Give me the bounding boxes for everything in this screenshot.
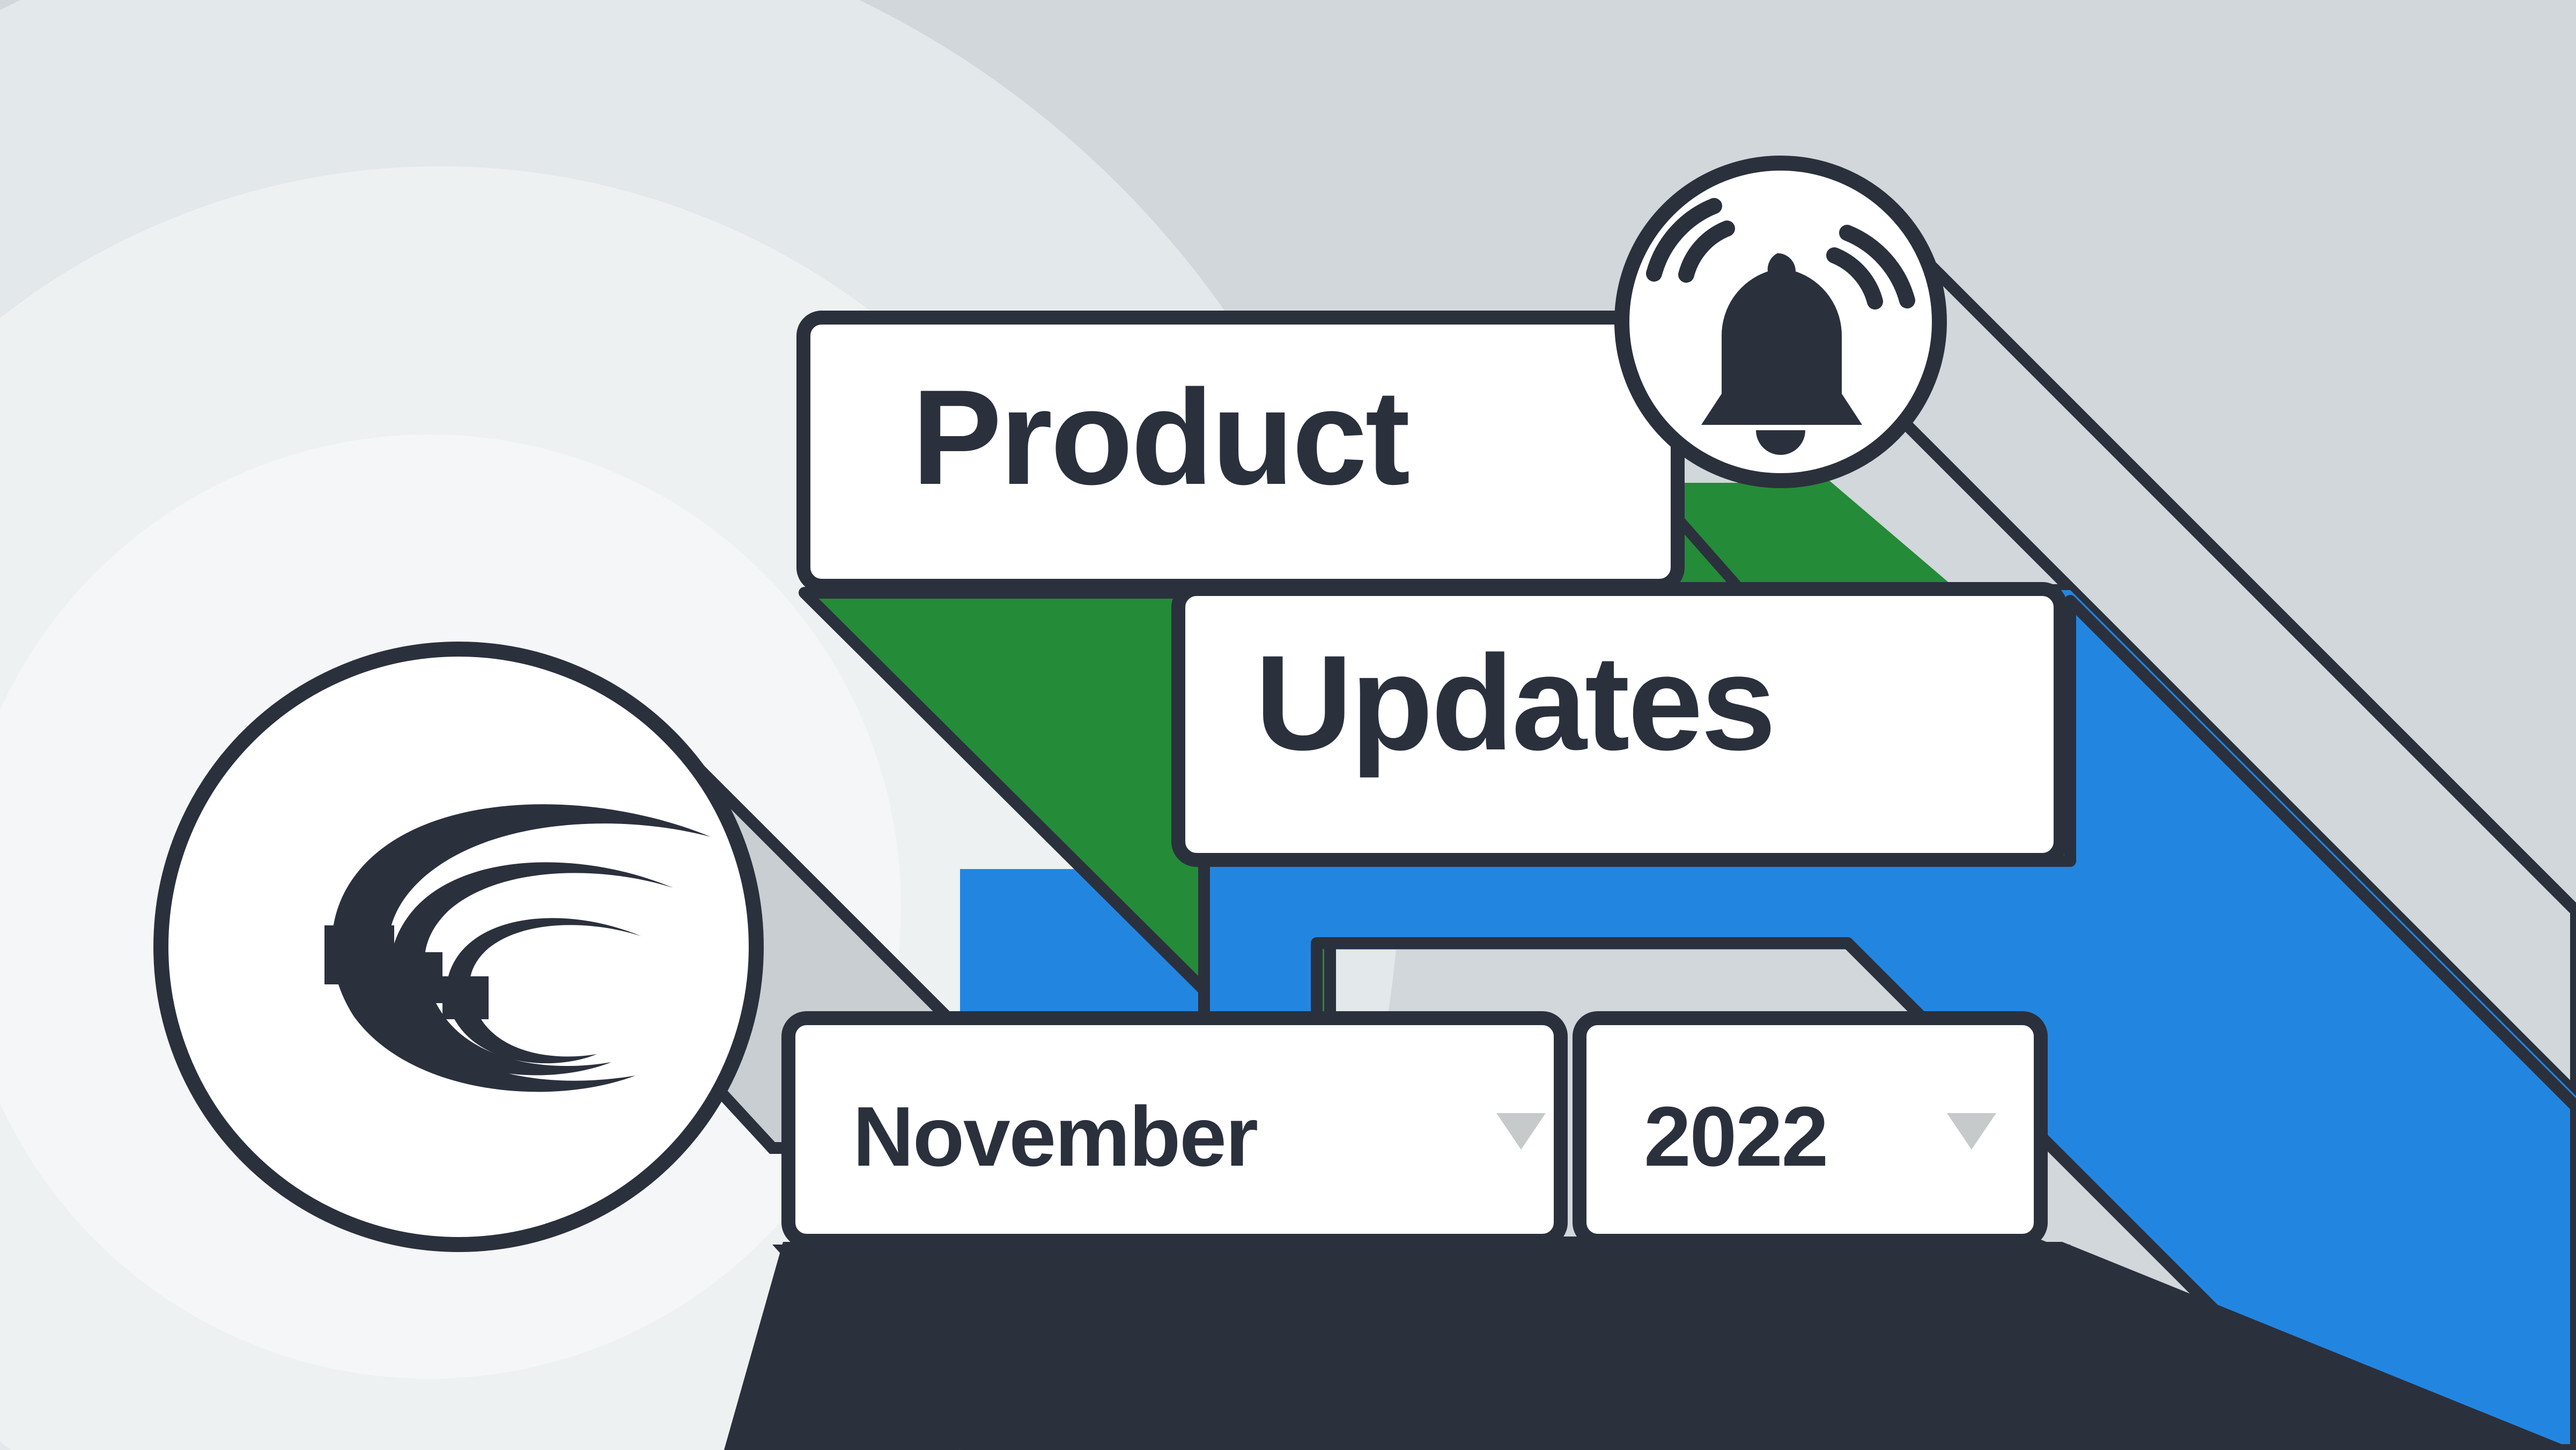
product-updates-banner: Product Updates November 2022 bbox=[0, 0, 2576, 1450]
year-selector-value[interactable]: 2022 bbox=[1644, 1094, 1827, 1179]
brand-logo-circle bbox=[161, 649, 756, 1245]
chevron-down-icon[interactable] bbox=[1496, 1113, 1546, 1150]
page-title-line-1: Product bbox=[912, 370, 1408, 505]
page-title-line-2: Updates bbox=[1255, 636, 1774, 771]
month-selector-value[interactable]: November bbox=[853, 1094, 1257, 1179]
chevron-down-icon[interactable] bbox=[1947, 1113, 1996, 1150]
